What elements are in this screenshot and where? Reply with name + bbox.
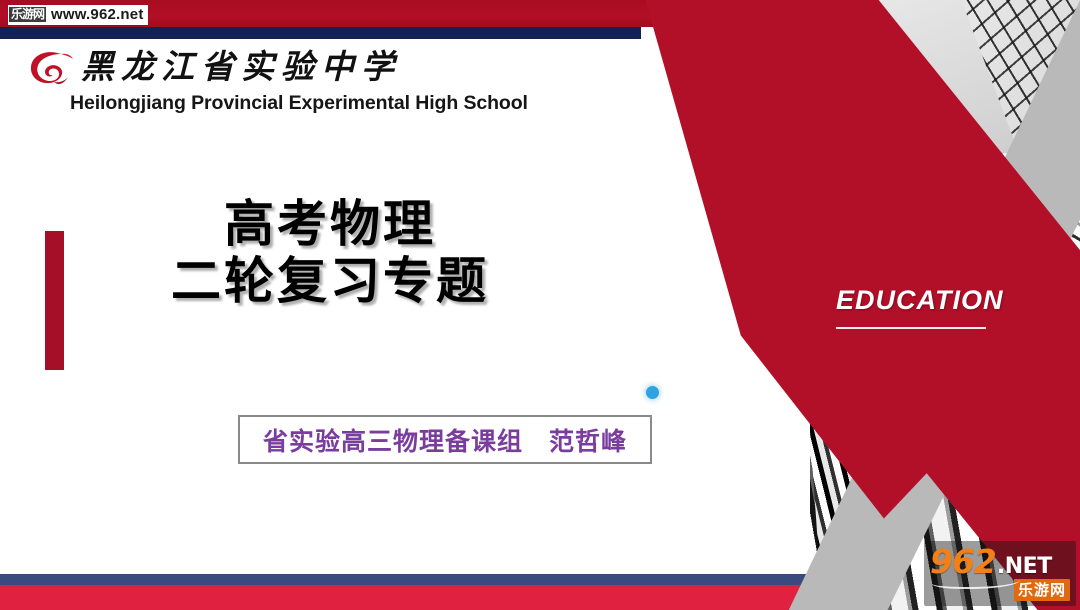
logo-english-name: Heilongjiang Provincial Experimental Hig…	[70, 92, 528, 115]
presentation-slide: EDUCATION 黑龙江省实验中学 Heilongjiang Provinci…	[0, 0, 1080, 610]
watermark-logo-row: 962 .NET	[930, 545, 1070, 578]
watermark-bottom-right: 962 .NET 乐游网	[924, 541, 1076, 606]
logo-chinese-name: 黑龙江省实验中学	[81, 52, 401, 85]
title-line-1: 高考物理	[0, 196, 660, 253]
subtitle-text: 省实验高三物理备课组 范哲峰	[263, 422, 627, 458]
watermark-url: www.962.net	[51, 6, 144, 23]
watermark-net: .NET	[997, 556, 1052, 578]
education-underline	[836, 327, 986, 329]
subtitle-box: 省实验高三物理备课组 范哲峰	[238, 415, 652, 464]
title-line-2: 二轮复习专题	[0, 253, 660, 310]
education-banner: EDUCATION	[836, 287, 1004, 329]
page-title: 高考物理 二轮复习专题	[0, 196, 660, 310]
watermark-badge: 乐游网	[9, 7, 46, 23]
watermark-cn-label: 乐游网	[1014, 579, 1070, 601]
school-logo: 黑龙江省实验中学 Heilongjiang Provincial Experim…	[28, 48, 528, 115]
blue-dot-marker	[646, 386, 659, 399]
watermark-cn-row: 乐游网	[930, 579, 1070, 601]
watermark-962: 962	[930, 545, 996, 578]
top-navy-band	[0, 27, 641, 39]
logo-top-row: 黑龙江省实验中学	[28, 48, 528, 88]
red-swirl-emblem-icon	[28, 48, 74, 88]
education-label: EDUCATION	[836, 287, 1004, 314]
watermark-top-left: 乐游网 www.962.net	[8, 5, 148, 25]
